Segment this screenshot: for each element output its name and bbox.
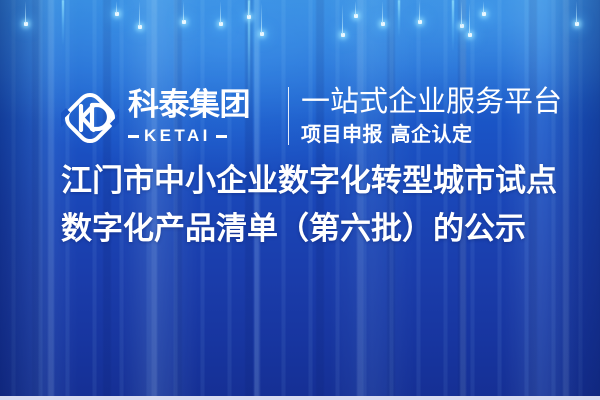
light-particle — [182, 20, 186, 24]
ketai-logo-icon — [61, 89, 119, 147]
dash-left-icon — [128, 135, 139, 138]
light-particle — [341, 33, 345, 37]
company-name-en-row: KETAI — [128, 126, 278, 146]
light-particle — [138, 25, 142, 29]
tagline-primary: 一站式企业服务平台 — [301, 84, 562, 118]
announcement-banner: 科泰集团 KETAI 一站式企业服务平台 项目申报 高企认定 江门市中小企业数字… — [0, 0, 600, 400]
banner-header: 科泰集团 KETAI 一站式企业服务平台 项目申报 高企认定 — [0, 40, 600, 112]
light-particle — [24, 22, 28, 26]
light-particle — [260, 32, 264, 36]
company-name-cn: 科泰集团 — [128, 87, 278, 123]
ketai-wordmark: 科泰集团 KETAI — [128, 87, 278, 146]
light-particle — [354, 14, 358, 18]
header-divider — [288, 87, 289, 145]
light-particle — [482, 12, 486, 16]
bottom-strip — [0, 396, 600, 400]
tagline-secondary: 项目申报 高企认定 — [301, 122, 562, 146]
light-particle — [219, 22, 223, 26]
dash-right-icon — [216, 135, 227, 138]
light-particle — [460, 24, 464, 28]
light-ray — [398, 0, 400, 38]
company-name-en: KETAI — [144, 126, 211, 146]
light-particle — [418, 20, 422, 24]
light-particle — [381, 22, 385, 26]
tagline-block: 一站式企业服务平台 项目申报 高企认定 — [301, 84, 562, 146]
light-particle — [115, 12, 119, 16]
light-particle — [247, 15, 251, 19]
light-particle — [468, 33, 472, 37]
light-particle — [575, 22, 579, 26]
page-title: 江门市中小企业数字化转型城市试点数字化产品清单（第六批）的公示 — [61, 157, 565, 253]
